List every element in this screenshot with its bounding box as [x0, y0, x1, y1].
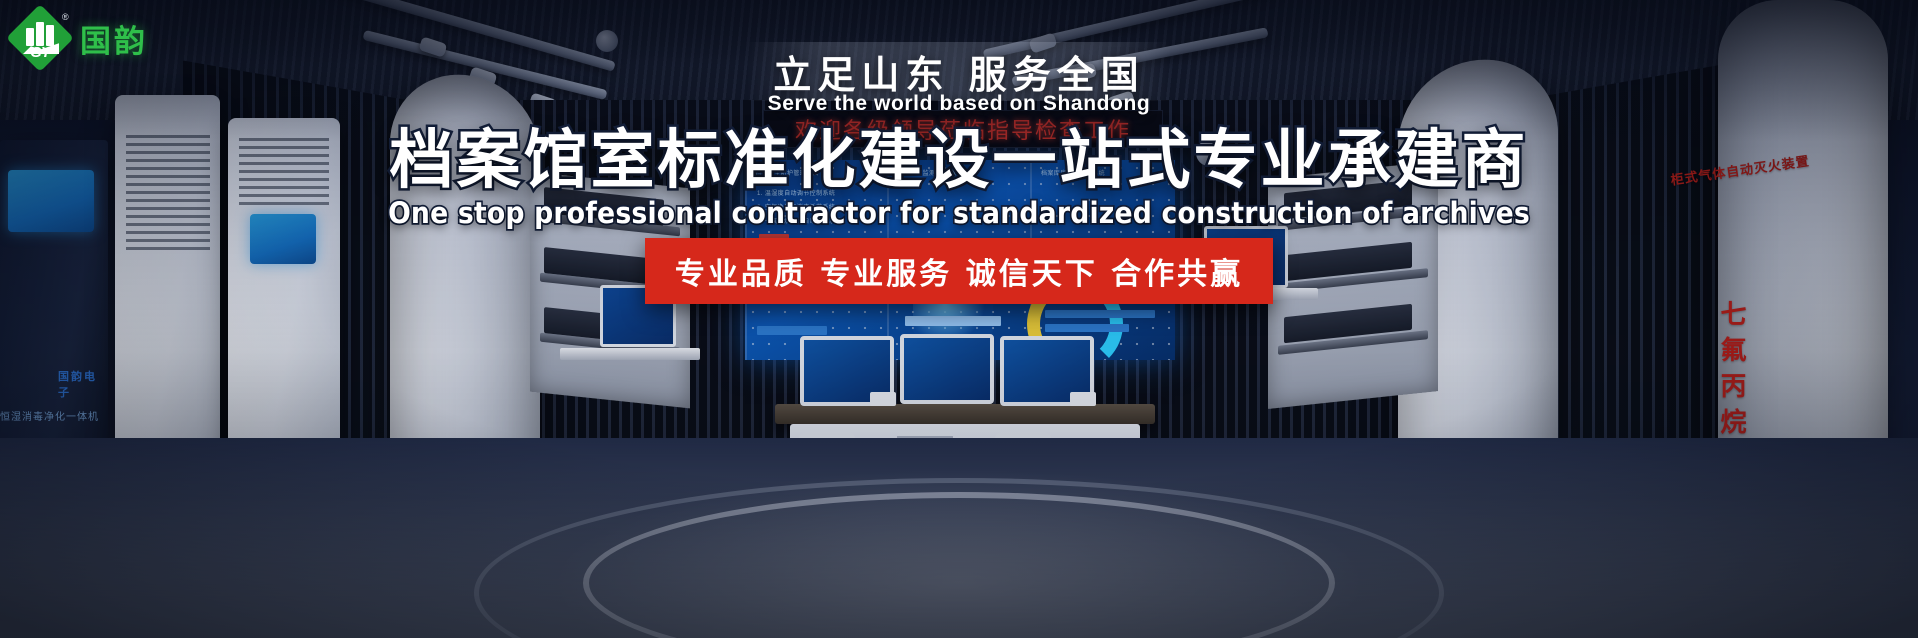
- slogan-red-banner[interactable]: 专业品质 专业服务 诚信天下 合作共赢: [645, 238, 1273, 304]
- registered-mark: ®: [62, 12, 69, 22]
- headline-en: One stop professional contractor for sta…: [77, 196, 1842, 230]
- top-slogan-en: Serve the world based on Shandong: [0, 92, 1918, 116]
- red-bar-row: 专业品质 专业服务 诚信天下 合作共赢: [0, 238, 1918, 304]
- hero-banner: 档案安全防护管理平台 综合数据监测 实时数据展示 档案库房环境监控系统 1. 温…: [0, 0, 1918, 638]
- headline-cn: 档案馆室标准化建设一站式专业承建商: [0, 128, 1918, 195]
- text-overlay: GY ® 国韵 立足山东 服务全国 Serve the world based …: [0, 0, 1918, 638]
- red-banner-text: 专业品质 专业服务 诚信天下 合作共赢: [675, 257, 1243, 292]
